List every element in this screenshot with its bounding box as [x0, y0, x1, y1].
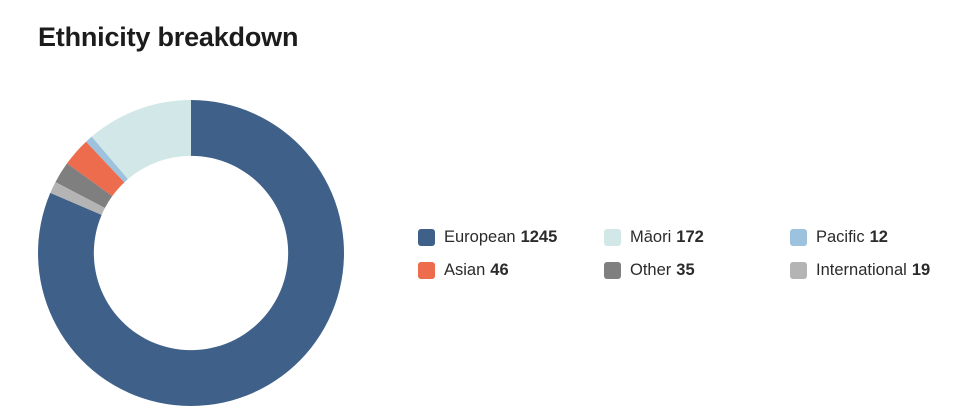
donut-chart-svg — [36, 98, 346, 408]
legend-label-european: European — [444, 228, 516, 246]
legend-item-international[interactable]: International19 — [790, 261, 959, 280]
chart-title: Ethnicity breakdown — [38, 22, 298, 53]
legend-text-other: Other35 — [630, 261, 695, 280]
legend-label-other: Other — [630, 261, 671, 279]
legend-item-european[interactable]: European1245 — [418, 228, 604, 247]
legend-text-maori: Māori172 — [630, 228, 704, 247]
legend-swatch-pacific — [790, 229, 807, 246]
legend-swatch-other — [604, 262, 621, 279]
legend-text-pacific: Pacific12 — [816, 228, 888, 247]
donut-slice-group — [38, 100, 344, 406]
donut-chart — [36, 98, 346, 408]
legend-label-pacific: Pacific — [816, 228, 865, 246]
legend-text-international: International19 — [816, 261, 930, 280]
legend-value-pacific: 12 — [870, 228, 888, 246]
legend-swatch-european — [418, 229, 435, 246]
legend-text-asian: Asian46 — [444, 261, 509, 280]
legend-label-maori: Māori — [630, 228, 671, 246]
legend-row: European1245Māori172Pacific12 — [418, 228, 948, 247]
legend-item-asian[interactable]: Asian46 — [418, 261, 604, 280]
legend-label-asian: Asian — [444, 261, 485, 279]
legend-value-other: 35 — [676, 261, 694, 279]
legend-item-other[interactable]: Other35 — [604, 261, 790, 280]
legend-text-european: European1245 — [444, 228, 557, 247]
legend-swatch-maori — [604, 229, 621, 246]
legend-swatch-asian — [418, 262, 435, 279]
legend-label-international: International — [816, 261, 907, 279]
legend-row: Asian46Other35International19 — [418, 261, 948, 280]
chart-legend: European1245Māori172Pacific12Asian46Othe… — [418, 228, 948, 280]
ethnicity-breakdown-chart-figure: Ethnicity breakdown European1245Māori172… — [0, 0, 959, 419]
legend-item-maori[interactable]: Māori172 — [604, 228, 790, 247]
legend-value-asian: 46 — [490, 261, 508, 279]
legend-value-european: 1245 — [521, 228, 558, 246]
legend-value-maori: 172 — [676, 228, 704, 246]
legend-swatch-international — [790, 262, 807, 279]
legend-item-pacific[interactable]: Pacific12 — [790, 228, 959, 247]
legend-value-international: 19 — [912, 261, 930, 279]
